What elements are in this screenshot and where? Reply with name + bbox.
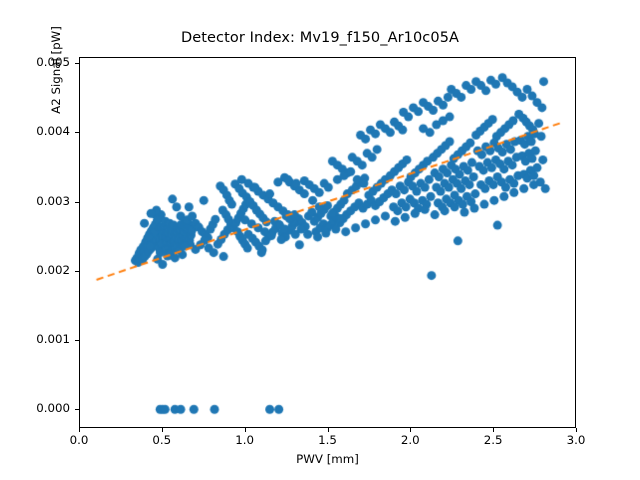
y-tick-mark (75, 271, 79, 272)
x-tick-label: 0.5 (132, 433, 192, 447)
x-tick-label: 1.5 (298, 433, 358, 447)
y-tick-mark (75, 202, 79, 203)
y-axis-label: A2 Signal [pW] (49, 0, 65, 190)
y-tick-mark (75, 409, 79, 410)
plot-axes (79, 57, 576, 428)
x-tick-label: 1.0 (215, 433, 275, 447)
y-tick-label: 0.003 (0, 194, 70, 208)
y-tick-label: 0.001 (0, 332, 70, 346)
matplotlib-figure: Detector Index: Mv19_f150_Ar10c05A 0.0 0… (0, 0, 640, 480)
y-tick-label: 0.002 (0, 263, 70, 277)
x-tick-mark (493, 428, 494, 432)
x-tick-mark (79, 428, 80, 432)
y-tick-mark (75, 132, 79, 133)
y-tick-label: 0.000 (0, 401, 70, 415)
x-tick-mark (162, 428, 163, 432)
page-title: Detector Index: Mv19_f150_Ar10c05A (0, 30, 640, 46)
y-tick-mark (75, 340, 79, 341)
x-tick-label: 2.5 (463, 433, 523, 447)
x-axis-label: PWV [mm] (79, 452, 576, 466)
x-tick-label: 0.0 (49, 433, 109, 447)
x-tick-mark (328, 428, 329, 432)
x-tick-mark (410, 428, 411, 432)
x-tick-mark (245, 428, 246, 432)
scatter-plot-canvas (80, 58, 575, 427)
x-tick-label: 3.0 (546, 433, 606, 447)
x-tick-label: 2.0 (380, 433, 440, 447)
y-tick-mark (75, 63, 79, 64)
x-tick-mark (576, 428, 577, 432)
